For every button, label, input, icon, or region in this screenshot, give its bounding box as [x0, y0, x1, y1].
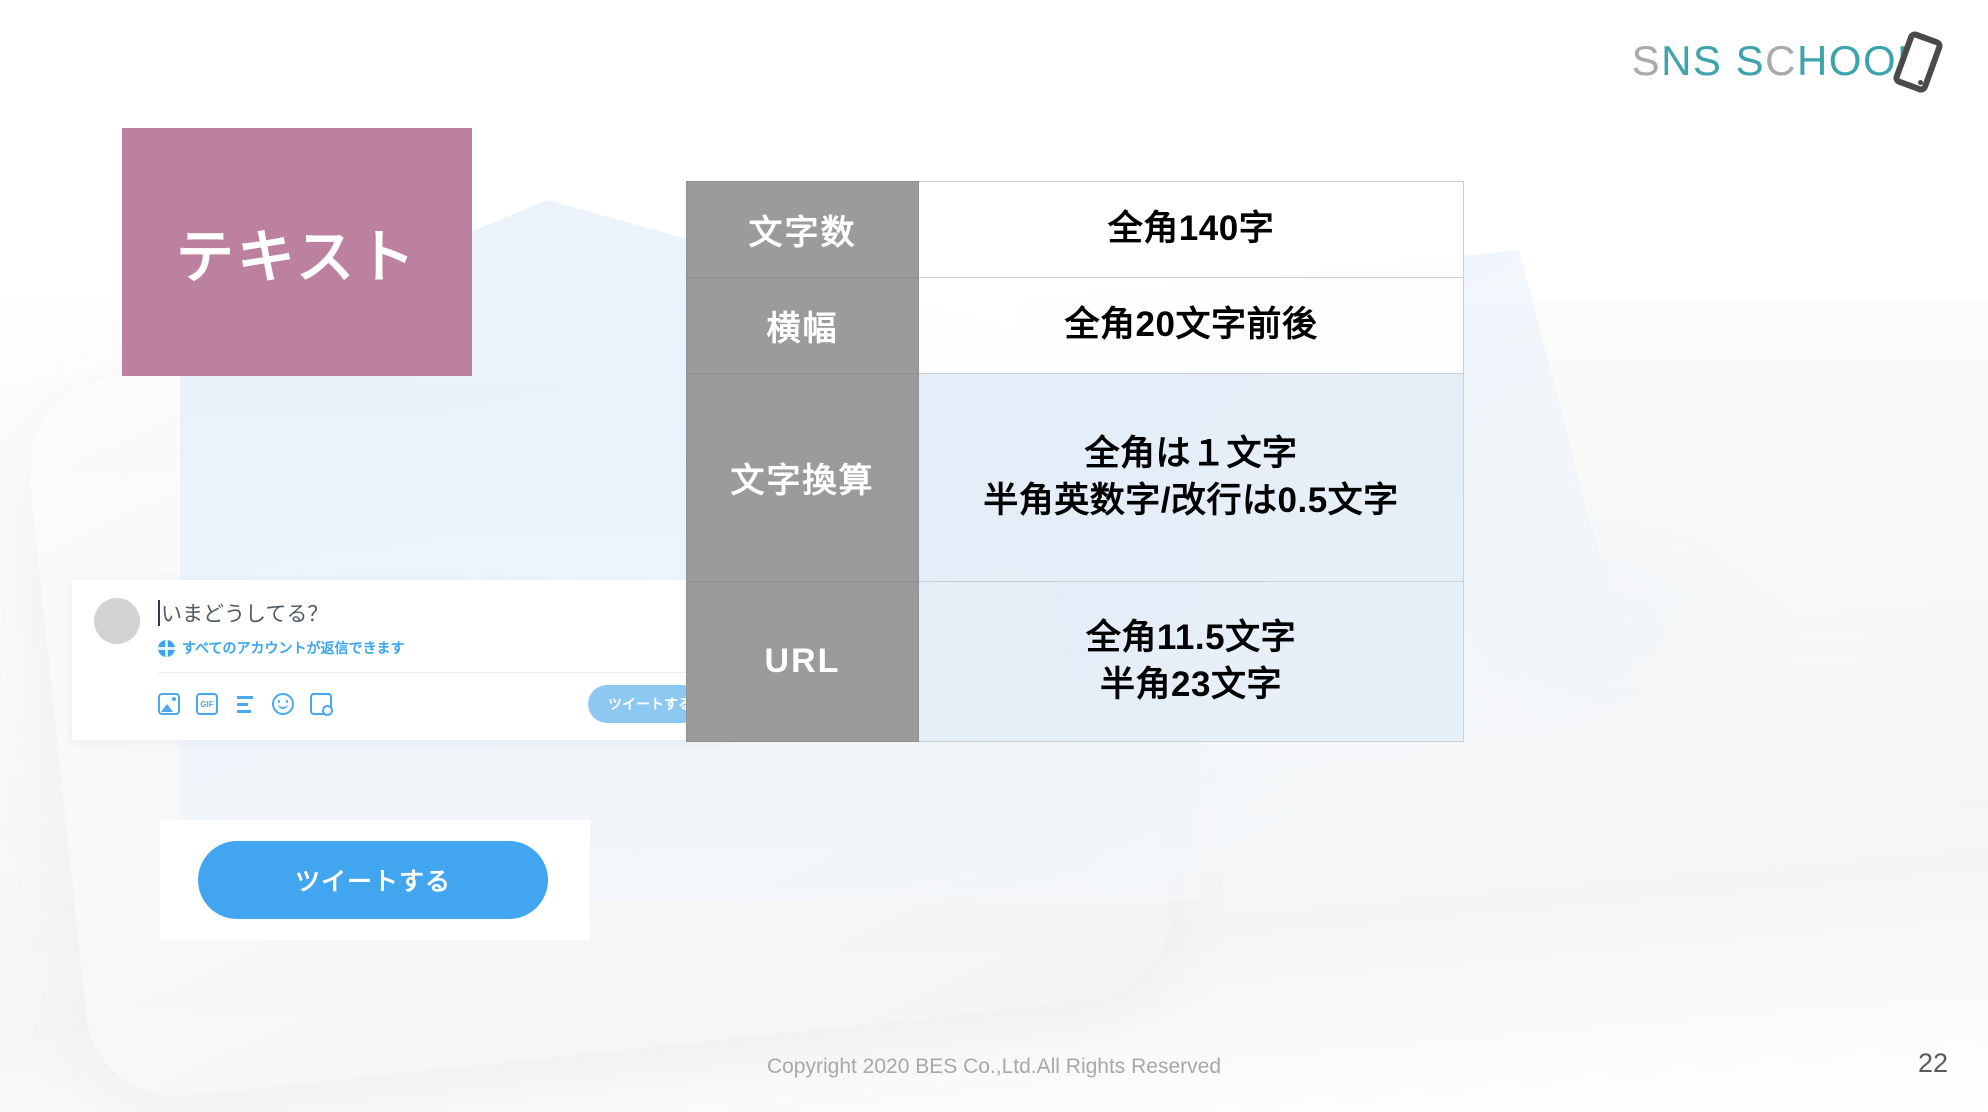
spec-value-line1: 全角20文字前後 — [1065, 305, 1318, 344]
spec-value-line2: 半角英数字/改行は0.5文字 — [919, 478, 1463, 524]
tweet-primary-button[interactable]: ツイートする — [198, 841, 548, 919]
spec-table: 文字数 全角140字 横幅 全角20文字前後 文字換算 全角は１文字 半角英数字… — [686, 181, 1464, 742]
tweet-compose-card: いまどうしてる？ すべてのアカウントが返信できます GIF — [72, 580, 732, 740]
gif-icon-label: GIF — [196, 693, 218, 715]
globe-icon — [158, 640, 175, 657]
copyright-text: Copyright 2020 BES Co.,Ltd.All Rights Re… — [0, 1055, 1988, 1079]
poll-icon[interactable] — [234, 693, 256, 715]
spec-value-line1: 全角11.5文字 — [919, 615, 1463, 661]
sns-school-logo: SNS SCHOOL — [1632, 30, 1940, 92]
spec-value-cell: 全角11.5文字 半角23文字 — [919, 582, 1464, 742]
emoji-icon[interactable] — [272, 693, 294, 715]
compose-toolbar: GIF ツイートする — [72, 673, 732, 723]
phone-icon-body — [1892, 30, 1945, 95]
spec-value-line1: 全角140字 — [1108, 209, 1274, 248]
spec-value-line1: 全角は１文字 — [919, 431, 1463, 477]
spec-label-cell: 横幅 — [687, 278, 919, 374]
avatar — [94, 598, 140, 644]
spec-label-cell: 文字換算 — [687, 374, 919, 582]
spec-value-cell: 全角は１文字 半角英数字/改行は0.5文字 — [919, 374, 1464, 582]
phone-icon — [1896, 30, 1940, 92]
logo-wordmark: SNS SCHOOL — [1632, 37, 1922, 85]
logo-text-part2: NS S — [1661, 37, 1765, 84]
schedule-icon[interactable] — [310, 693, 332, 715]
section-heading-block: テキスト — [122, 128, 472, 376]
spec-value-cell: 全角20文字前後 — [919, 278, 1464, 374]
tweet-text-input[interactable]: いまどうしてる？ — [158, 598, 712, 628]
spec-value-line2: 半角23文字 — [919, 662, 1463, 708]
tweet-placeholder-label: いまどうしてる？ — [161, 598, 328, 628]
image-icon[interactable] — [158, 693, 180, 715]
reply-setting-label: すべてのアカウントが返信できます — [182, 638, 404, 658]
logo-text-part3: C — [1765, 37, 1797, 84]
table-row: URL 全角11.5文字 半角23文字 — [687, 582, 1464, 742]
table-row: 文字換算 全角は１文字 半角英数字/改行は0.5文字 — [687, 374, 1464, 582]
compose-fields: いまどうしてる？ すべてのアカウントが返信できます — [158, 598, 712, 658]
slide-canvas: SNS SCHOOL テキスト いまどうしてる？ すべてのアカウントが返信できま… — [0, 0, 1988, 1112]
reply-setting-row[interactable]: すべてのアカウントが返信できます — [158, 638, 712, 658]
text-caret — [158, 600, 160, 626]
table-row: 文字数 全角140字 — [687, 182, 1464, 278]
spec-table-body: 文字数 全角140字 横幅 全角20文字前後 文字換算 全角は１文字 半角英数字… — [687, 182, 1464, 742]
spec-value-cell: 全角140字 — [919, 182, 1464, 278]
page-number: 22 — [1918, 1048, 1948, 1079]
logo-text-part1: S — [1632, 37, 1662, 84]
compose-tool-icons: GIF — [158, 693, 588, 715]
section-heading-label: テキスト — [176, 210, 418, 294]
gif-icon[interactable]: GIF — [196, 693, 218, 715]
background-phone-home-button — [897, 727, 1067, 897]
spec-label-cell: URL — [687, 582, 919, 742]
compose-top-row: いまどうしてる？ すべてのアカウントが返信できます — [72, 580, 732, 658]
spec-label-cell: 文字数 — [687, 182, 919, 278]
primary-button-panel: ツイートする — [160, 820, 590, 940]
table-row: 横幅 全角20文字前後 — [687, 278, 1464, 374]
